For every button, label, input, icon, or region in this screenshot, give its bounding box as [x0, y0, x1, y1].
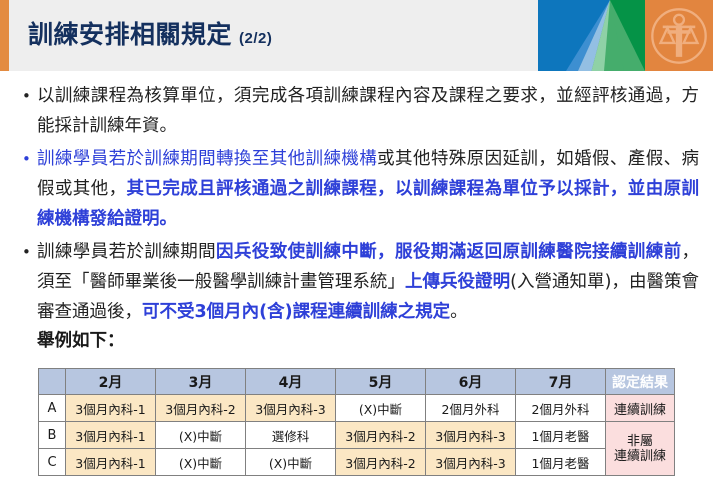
chevron-graphic [538, 0, 645, 71]
cell-b-1: 3個月內科-1 [66, 422, 156, 449]
bullet-item-2: • 訓練學員若於訓練期間轉換至其他訓練機構或其他特殊原因延訓，如婚假、產假、病假… [0, 144, 713, 234]
cell-a-2: 3個月內科-2 [156, 395, 246, 422]
slide-body: • 以訓練課程為核算單位，須完成各項訓練課程內容及課程之要求，並經評核通過，方能… [0, 71, 713, 487]
slide-header: 訓練安排相關規定 (2/2) [0, 0, 713, 71]
schedule-table: 2月 3月 4月 5月 6月 7月 認定結果 A 3個月內科-1 3個月內科-2… [38, 368, 675, 476]
header-accent-bar [0, 0, 9, 71]
logo-tile [645, 0, 713, 71]
bullet-marker: • [22, 237, 37, 267]
bullet-text-2: 訓練學員若於訓練期間轉換至其他訓練機構或其他特殊原因延訓，如婚假、產假、病假或其… [37, 144, 699, 234]
cell-a-3: 3個月內科-3 [246, 395, 336, 422]
table-col-header-result: 認定結果 [606, 369, 675, 395]
bullet-text-3: 訓練學員若於訓練期間因兵役致使訓練中斷，服役期滿返回原訓練醫院接續訓練前，須至「… [37, 237, 699, 327]
row-label-c: C [39, 449, 66, 476]
cell-b-6: 1個月老醫 [516, 422, 606, 449]
cell-c-6: 1個月老醫 [516, 449, 606, 476]
header-decoration [538, 0, 713, 71]
cell-b-5: 3個月內科-3 [426, 422, 516, 449]
cell-c-4: 3個月內科-2 [336, 449, 426, 476]
table-col-header-month-2: 3月 [156, 369, 246, 395]
result-cell-bc-line2: 連續訓練 [607, 449, 673, 464]
table-row: B 3個月內科-1 (X)中斷 選修科 3個月內科-2 3個月內科-3 1個月老… [39, 422, 675, 449]
bullet-3-seg-3: 上傳兵役證明 [405, 272, 510, 292]
table-row: A 3個月內科-1 3個月內科-2 3個月內科-3 (X)中斷 2個月外科 2個… [39, 395, 675, 422]
bullet-3-seg-5: 可不受3個月內(含)課程連續訓練之規定 [142, 302, 450, 322]
cell-c-1: 3個月內科-1 [66, 449, 156, 476]
table-col-header-month-4: 5月 [336, 369, 426, 395]
bullet-2-seg-0: 訓練學員若於訓練期間轉換至其他訓練機構 [37, 149, 377, 169]
table-col-header-month-5: 6月 [426, 369, 516, 395]
cell-a-1: 3個月內科-1 [66, 395, 156, 422]
table-col-header-month-1: 2月 [66, 369, 156, 395]
row-label-b: B [39, 422, 66, 449]
bullet-2-seg-2: 其已完成且評核通過之訓練課程，以訓練課程為單位予以採計，並由原訓練機構發給證明。 [37, 179, 699, 229]
cell-a-4: (X)中斷 [336, 395, 426, 422]
bullet-3-seg-0: 訓練學員若於訓練期間 [37, 242, 216, 262]
result-cell-bc: 非屬 連續訓練 [606, 422, 675, 476]
schedule-table-wrapper: 2月 3月 4月 5月 6月 7月 認定結果 A 3個月內科-1 3個月內科-2… [38, 368, 674, 476]
result-cell-a: 連續訓練 [606, 395, 675, 422]
scales-of-justice-logo-icon [650, 7, 708, 65]
table-header-row: 2月 3月 4月 5月 6月 7月 認定結果 [39, 369, 675, 395]
cell-a-6: 2個月外科 [516, 395, 606, 422]
table-col-header-month-6: 7月 [516, 369, 606, 395]
cell-c-5: 3個月內科-3 [426, 449, 516, 476]
row-label-a: A [39, 395, 66, 422]
bullet-1-seg-0: 以訓練課程為核算單位，須完成各項訓練課程內容及課程之要求，並經評核通過，方能採計… [37, 86, 699, 136]
cell-c-3: (X)中斷 [246, 449, 336, 476]
cell-c-2: (X)中斷 [156, 449, 246, 476]
table-corner-cell [39, 369, 66, 395]
table-row: C 3個月內科-1 (X)中斷 (X)中斷 3個月內科-2 3個月內科-3 1個… [39, 449, 675, 476]
page-title: 訓練安排相關規定 (2/2) [28, 15, 272, 51]
bullet-marker: • [22, 144, 37, 174]
bullet-3-seg-6: 。 [450, 302, 468, 322]
result-cell-bc-line1: 非屬 [607, 434, 673, 449]
cell-b-3: 選修科 [246, 422, 336, 449]
cell-b-4: 3個月內科-2 [336, 422, 426, 449]
chevron-shapes-svg [538, 0, 645, 71]
cell-a-5: 2個月外科 [426, 395, 516, 422]
table-col-header-month-3: 4月 [246, 369, 336, 395]
bullet-marker: • [22, 81, 37, 111]
cell-b-2: (X)中斷 [156, 422, 246, 449]
page-title-subcount: (2/2) [239, 30, 272, 47]
bullet-item-1: • 以訓練課程為核算單位，須完成各項訓練課程內容及課程之要求，並經評核通過，方能… [0, 81, 713, 141]
bullet-text-1: 以訓練課程為核算單位，須完成各項訓練課程內容及課程之要求，並經評核通過，方能採計… [37, 81, 699, 141]
page-title-main: 訓練安排相關規定 [28, 15, 232, 51]
example-label: 舉例如下： [0, 327, 713, 355]
bullet-item-3: • 訓練學員若於訓練期間因兵役致使訓練中斷，服役期滿返回原訓練醫院接續訓練前，須… [0, 237, 713, 327]
bullet-3-seg-1: 因兵役致使訓練中斷，服役期滿返回原訓練醫院接續訓練前 [216, 242, 681, 262]
